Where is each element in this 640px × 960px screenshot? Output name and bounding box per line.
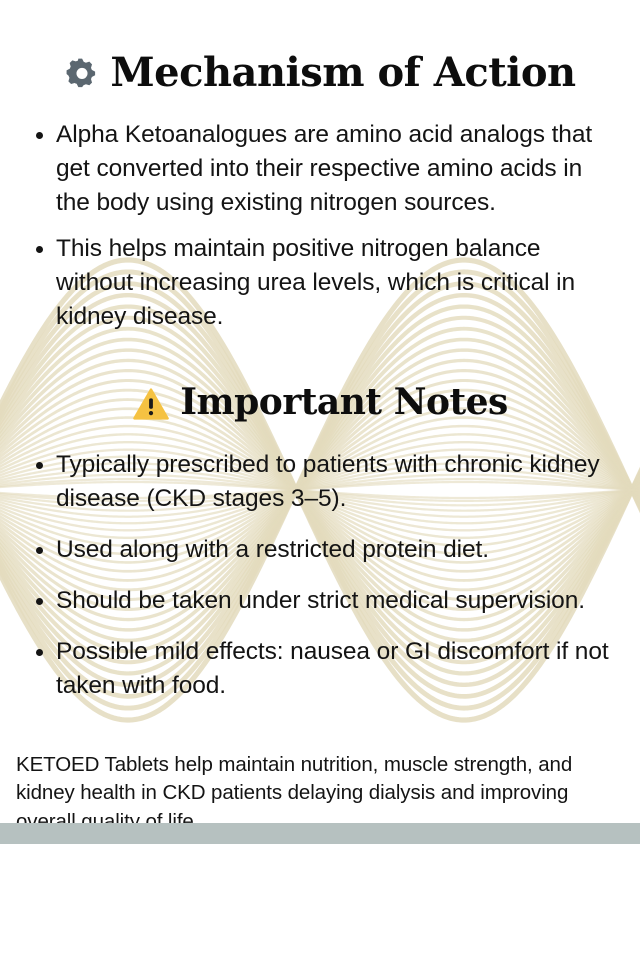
warning-triangle-icon	[132, 387, 170, 421]
bullet-list-important-notes: Typically prescribed to patients with ch…	[18, 448, 622, 703]
section-heading-important-notes: Important Notes	[0, 381, 640, 423]
poster-slide: Mechanism of Action Alpha Ketoanalogues …	[0, 0, 640, 960]
list-item: Typically prescribed to patients with ch…	[18, 448, 622, 516]
gear-icon	[64, 56, 100, 92]
section-heading-label: Important Notes	[180, 381, 508, 423]
slide-content: Mechanism of Action Alpha Ketoanalogues …	[0, 0, 640, 960]
list-item: Should be taken under strict medical sup…	[18, 584, 622, 618]
list-item: This helps maintain positive nitrogen ba…	[18, 232, 622, 334]
list-item: Alpha Ketoanalogues are amino acid analo…	[18, 118, 622, 220]
list-item: Used along with a restricted protein die…	[18, 533, 622, 567]
bullet-list-mechanism: Alpha Ketoanalogues are amino acid analo…	[18, 118, 622, 334]
section-heading-label: Mechanism of Action	[110, 50, 575, 96]
bottom-accent-bar	[0, 823, 640, 844]
list-item: Possible mild effects: nausea or GI disc…	[18, 635, 622, 703]
section-heading-mechanism: Mechanism of Action	[0, 50, 640, 96]
